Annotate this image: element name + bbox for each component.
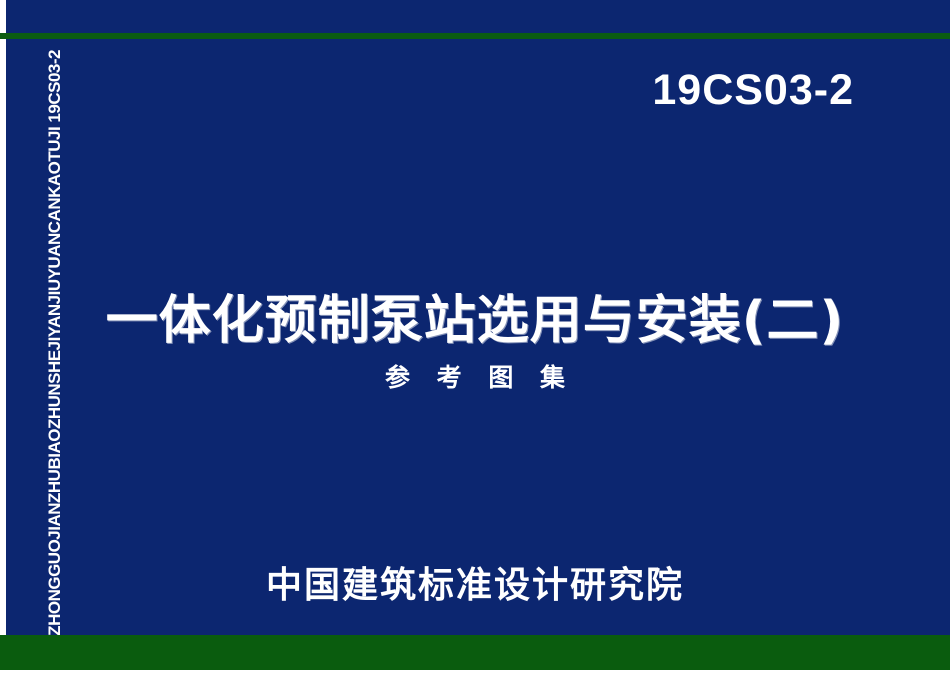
page-subtitle: 参 考 图 集 [0,358,950,394]
publisher-name: 中国建筑标准设计研究院 [0,556,950,608]
bottom-white-margin [0,670,950,676]
page-title: 一体化预制泵站选用与安装(二) [0,278,950,353]
atlas-code: 19CS03-2 [652,66,854,115]
bottom-green-band [0,635,950,670]
book-cover: ZHONGGUOJIANZHUBIAOZHUNSHEJIYANJIUYUANCA… [0,0,950,676]
top-green-rule [0,33,950,39]
